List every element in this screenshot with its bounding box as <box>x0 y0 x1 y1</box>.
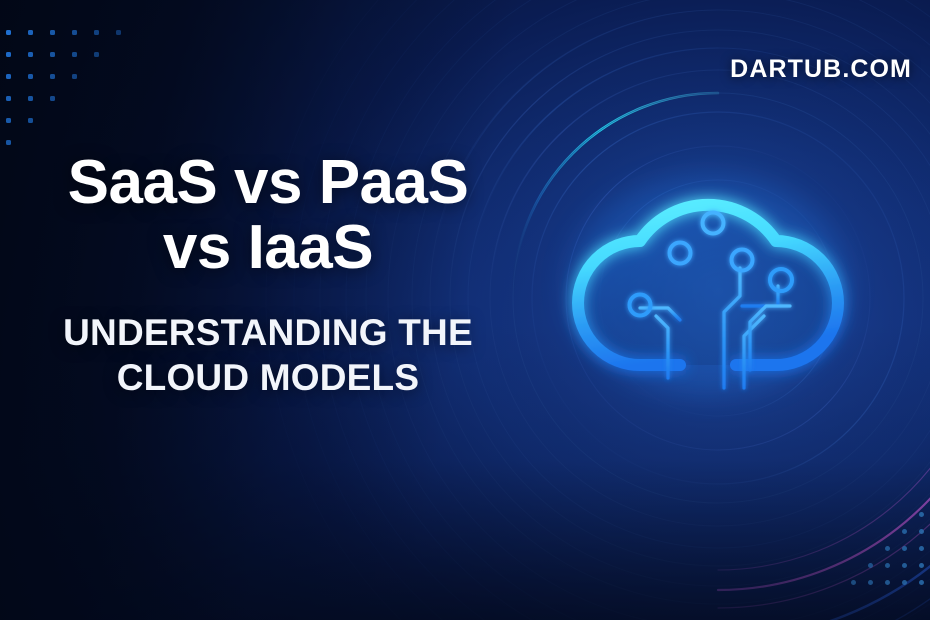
title-line-1: SaaS vs PaaS <box>8 150 528 215</box>
page-subtitle: UNDERSTANDING THE CLOUD MODELS <box>8 310 528 400</box>
headline-block: SaaS vs PaaS vs IaaS UNDERSTANDING THE C… <box>8 150 528 400</box>
subtitle-line-2: CLOUD MODELS <box>8 355 528 400</box>
subtitle-line-1: UNDERSTANDING THE <box>8 310 528 355</box>
title-line-2: vs IaaS <box>8 215 528 280</box>
thumbnail-canvas: SaaS vs PaaS vs IaaS UNDERSTANDING THE C… <box>0 0 930 620</box>
page-title: SaaS vs PaaS vs IaaS <box>8 150 528 280</box>
brand-logo: DARTUB.COM <box>730 55 912 84</box>
